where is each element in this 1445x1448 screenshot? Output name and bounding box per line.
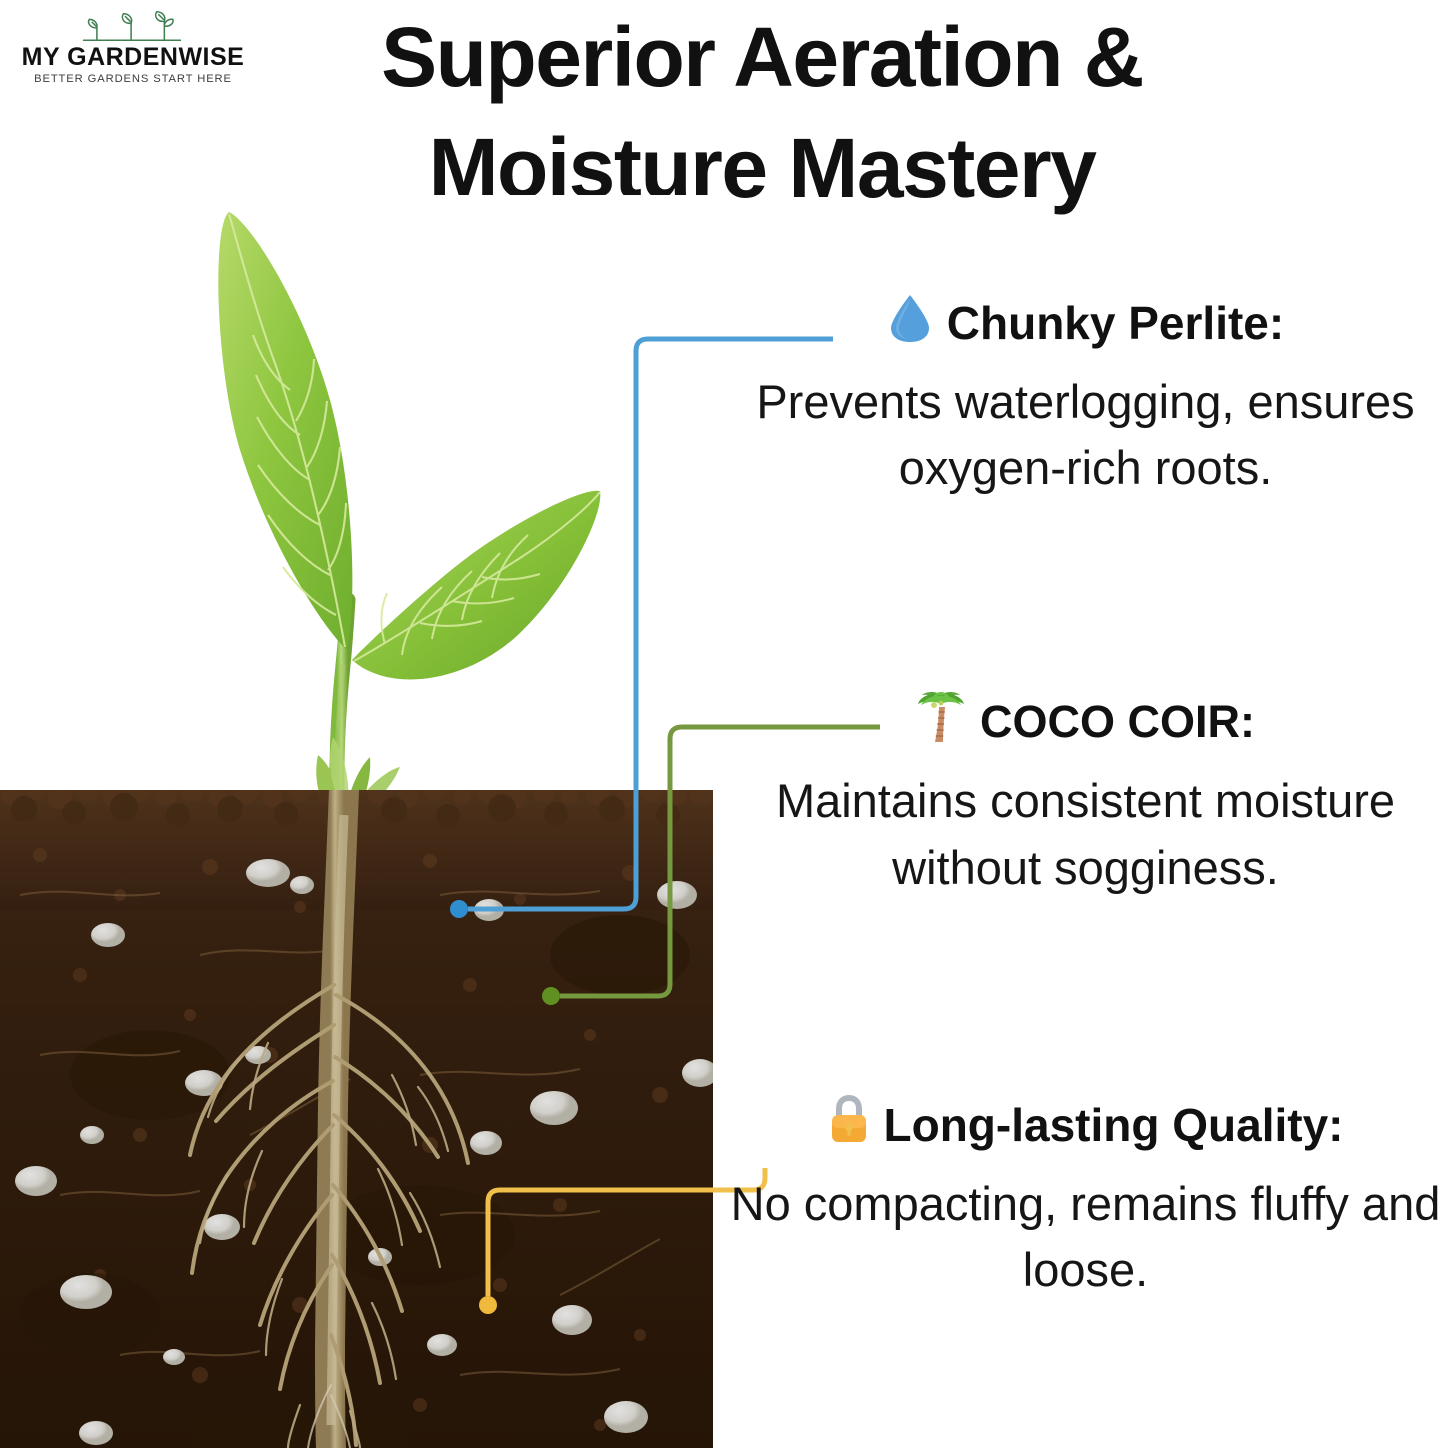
feature-perlite-heading-text: Chunky Perlite: — [947, 298, 1284, 350]
feature-quality-heading: Long-lasting Quality: — [726, 1094, 1445, 1157]
brand-logo: MY GARDENWISE BETTER GARDENS START HERE — [14, 8, 252, 85]
page-title: Superior Aeration & Moisture Mastery — [262, 2, 1262, 224]
soil-cross-section — [0, 778, 713, 1448]
brand-tagline: BETTER GARDENS START HERE — [14, 73, 252, 85]
feature-perlite-heading: Chunky Perlite: — [726, 292, 1445, 355]
palm-tree-icon — [916, 690, 966, 754]
feature-perlite-body: Prevents waterlogging, ensures oxygen-ri… — [726, 369, 1445, 502]
feature-perlite: Chunky Perlite: Prevents waterlogging, e… — [726, 292, 1445, 502]
feature-quality-body: No compacting, remains fluffy and loose. — [726, 1171, 1445, 1304]
brand-name: MY GARDENWISE — [14, 44, 252, 70]
feature-coir-heading-text: COCO COIR: — [980, 697, 1255, 747]
seedling-soil-photo — [0, 195, 713, 1448]
three-sprouts-icon — [76, 8, 190, 46]
water-droplet-icon — [887, 292, 933, 355]
lock-icon — [828, 1094, 870, 1157]
feature-quality: Long-lasting Quality: No compacting, rem… — [726, 1094, 1445, 1304]
feature-coir-heading: COCO COIR: — [726, 690, 1445, 754]
feature-coir-body: Maintains consistent moisture without so… — [726, 768, 1445, 901]
feature-quality-heading-text: Long-lasting Quality: — [884, 1100, 1344, 1152]
feature-coir: COCO COIR: Maintains consistent moisture… — [726, 690, 1445, 902]
page-title-line-1: Superior Aeration & — [262, 2, 1262, 113]
